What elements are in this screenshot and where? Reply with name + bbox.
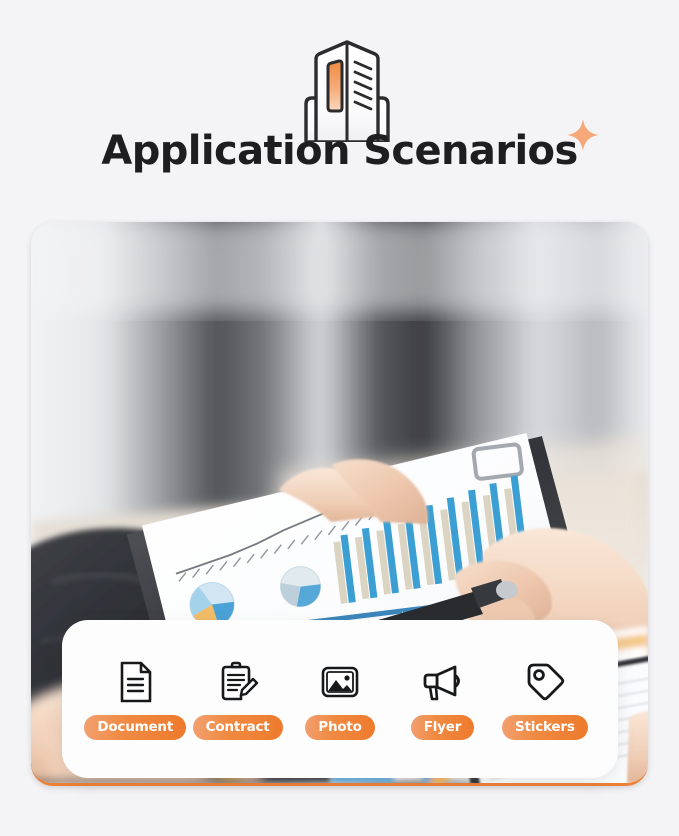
- document-icon: [112, 659, 158, 705]
- tag-icon: [522, 659, 568, 705]
- megaphone-icon: [419, 659, 465, 705]
- sparkle-icon: [566, 118, 600, 152]
- category-stickers[interactable]: Stickers: [494, 659, 596, 740]
- category-card: Document Contract: [62, 620, 618, 778]
- category-photo[interactable]: Photo: [289, 659, 391, 740]
- building-icon: [292, 38, 402, 142]
- clipboard-pencil-icon: [215, 659, 261, 705]
- category-label-flyer: Flyer: [411, 715, 474, 740]
- category-label-contract: Contract: [193, 715, 283, 740]
- category-label-photo: Photo: [305, 715, 375, 740]
- category-flyer[interactable]: Flyer: [391, 659, 493, 740]
- category-contract[interactable]: Contract: [186, 659, 288, 740]
- category-label-stickers: Stickers: [502, 715, 588, 740]
- category-label-document: Document: [84, 715, 186, 740]
- image-icon: [317, 659, 363, 705]
- category-document[interactable]: Document: [84, 659, 186, 740]
- page-title: Application Scenarios: [101, 128, 577, 174]
- page-header: Application Scenarios: [0, 0, 679, 215]
- application-scenarios-page: Application Scenarios: [0, 0, 679, 836]
